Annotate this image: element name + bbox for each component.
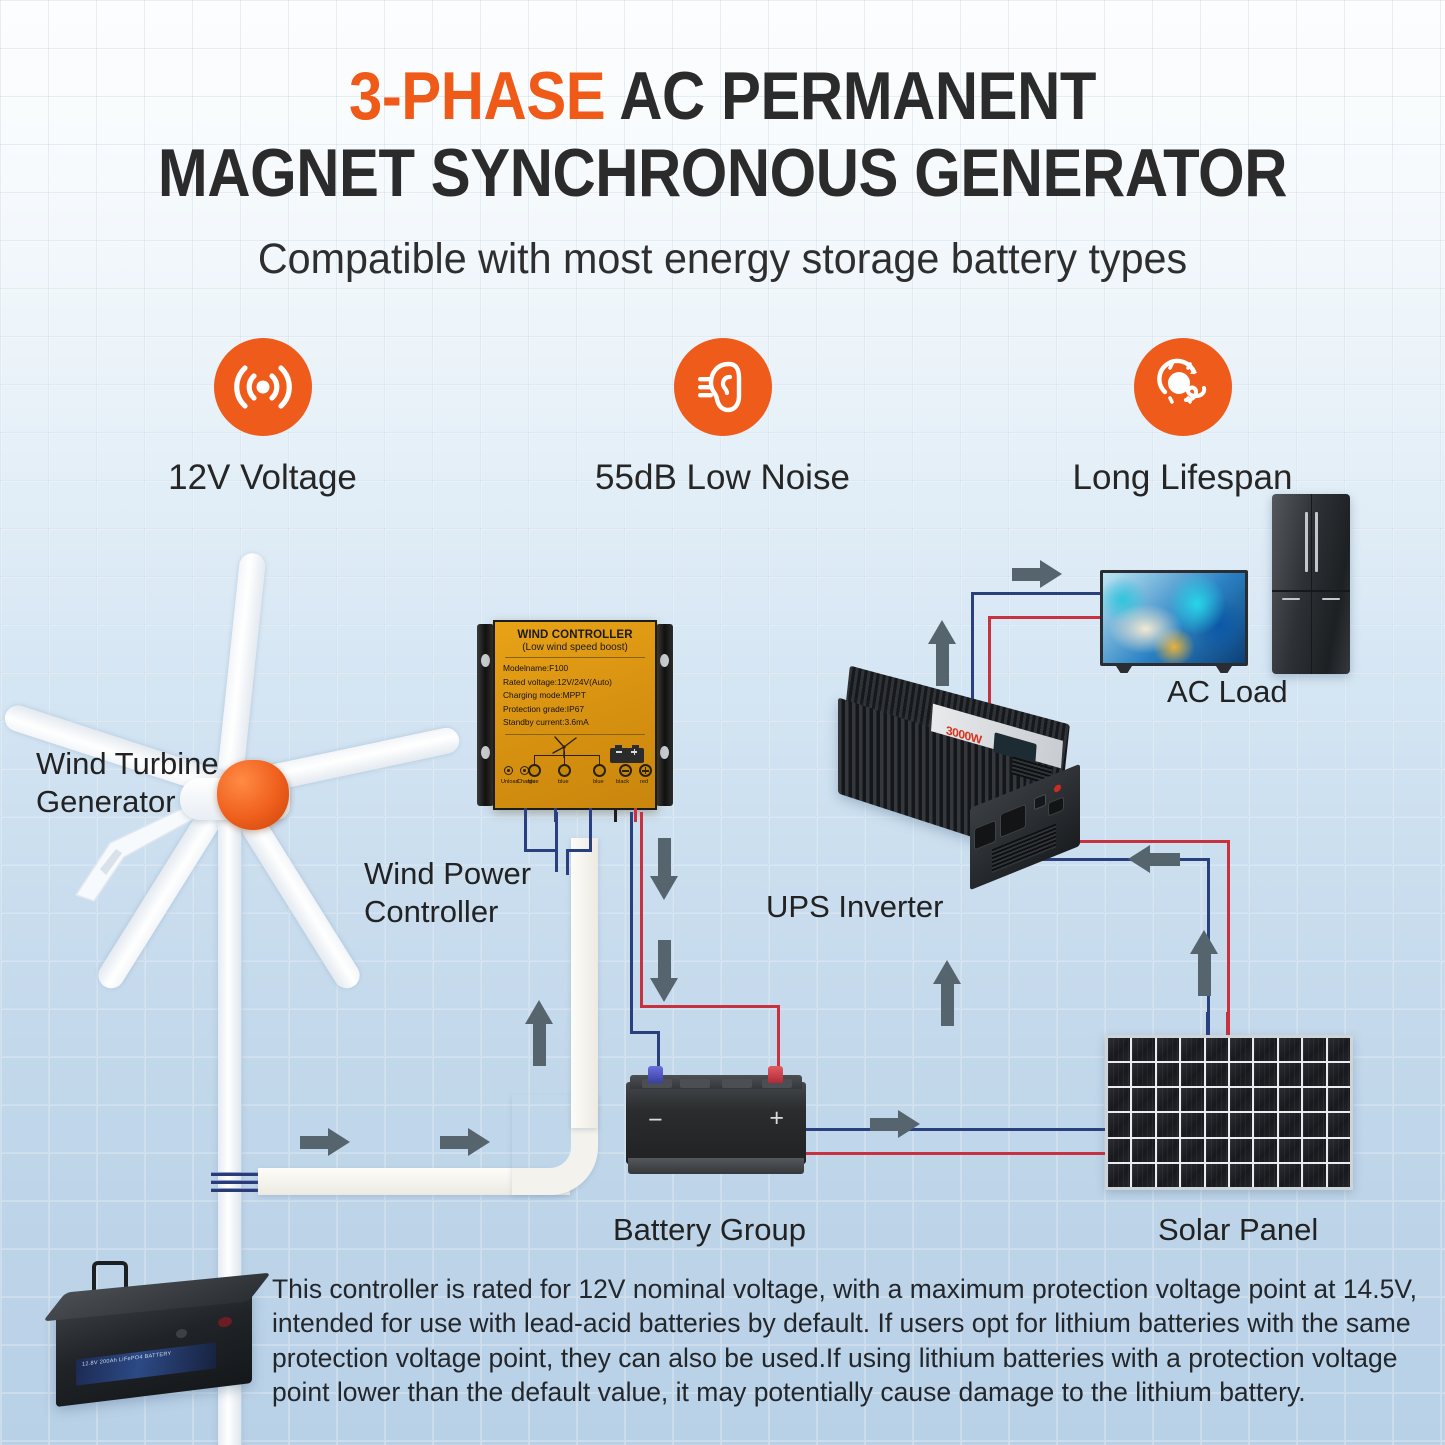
- infographic-canvas: 3-PHASE AC PERMANENT MAGNET SYNCHRONOUS …: [0, 0, 1445, 1445]
- battery-terminal-positive: [768, 1066, 783, 1083]
- controller-spec-protection: Protection grade:IP67: [503, 703, 647, 717]
- phase-lead-merge: [566, 849, 569, 875]
- tv-foot-right: [1216, 666, 1232, 673]
- terminal-label-phase-3: blue: [593, 779, 604, 785]
- phase-lead-1b: [524, 849, 558, 852]
- cable-conduit-vertical: [571, 838, 598, 1128]
- controller-pigtail-black: [614, 808, 617, 822]
- wire-inverter-acload-live-h: [988, 616, 1101, 619]
- terminal-label-phase-1: blue: [528, 779, 539, 785]
- terminal-dc-negative: [619, 764, 632, 777]
- inverter-socket-rj[interactable]: [1048, 796, 1064, 816]
- controller-title: WIND CONTROLLER: [503, 629, 647, 641]
- terminal-phase-2: [558, 764, 571, 777]
- battery-base: [628, 1158, 804, 1174]
- battery-group-graphic: − +: [626, 1066, 806, 1184]
- label-ups-inverter: UPS Inverter: [766, 888, 943, 926]
- page-title-line2: MAGNET SYNCHRONOUS GENERATOR: [87, 139, 1359, 208]
- feature-noise: 55dB Low Noise: [583, 338, 863, 498]
- lifespan-loop-icon: [1134, 338, 1232, 436]
- terminal-unload-led: [504, 766, 513, 775]
- header: 3-PHASE AC PERMANENT MAGNET SYNCHRONOUS …: [0, 0, 1445, 284]
- fridge-door-gap: [1311, 494, 1313, 674]
- inverter-indicator-led: [1054, 783, 1061, 793]
- ups-inverter-graphic: 3000W: [828, 694, 1086, 876]
- terminal-phase-1: [528, 764, 541, 777]
- controller-divider: [505, 657, 645, 658]
- battery-negative-sign: −: [648, 1106, 663, 1135]
- title-highlight: 3-PHASE: [349, 58, 605, 134]
- wire-controller-battery-negative-v: [630, 812, 633, 1034]
- wire-controller-battery-positive-h: [640, 1005, 780, 1008]
- label-solar-panel: Solar Panel: [1158, 1211, 1318, 1249]
- tv-graphic: [1100, 570, 1248, 666]
- controller-pigtail-red: [634, 808, 637, 822]
- feature-label-lifespan: Long Lifespan: [1043, 458, 1323, 498]
- wire-controller-battery-positive-down: [777, 1005, 780, 1073]
- ear-low-noise-icon: [674, 338, 772, 436]
- phase-lead-1: [524, 812, 527, 852]
- controller-spec-standby: Standby current:3.6mA: [503, 716, 647, 730]
- turbine-tail-fin: [66, 787, 198, 905]
- controller-divider-2: [505, 734, 645, 735]
- controller-battery-pictogram: [610, 748, 644, 763]
- controller-faceplate: WIND CONTROLLER (Low wind speed boost) M…: [493, 620, 657, 810]
- phase-lead-3b: [566, 849, 592, 852]
- terminal-label-dc-positive: red: [640, 779, 648, 785]
- controller-spec-charging: Charging mode:MPPT: [503, 689, 647, 703]
- feature-label-noise: 55dB Low Noise: [583, 458, 863, 498]
- tv-screen: [1100, 570, 1248, 666]
- solar-cell-grid: [1108, 1038, 1350, 1187]
- inverter-outlet-universal[interactable]: [1000, 804, 1026, 839]
- phase-lead-3: [589, 812, 592, 852]
- controller-terminal-area: Unload Charge blue blue blue black red: [503, 738, 647, 794]
- controller-spec-model: Modelname:F100: [503, 662, 647, 676]
- controller-spec-voltage: Rated voltage:12V/24V(Auto): [503, 676, 647, 690]
- terminal-label-phase-2: blue: [558, 779, 569, 785]
- battery-positive-sign: +: [769, 1104, 784, 1133]
- battery-terminal-negative: [648, 1066, 663, 1083]
- title-rest: AC PERMANENT: [605, 58, 1096, 134]
- fridge-handle-upper-left: [1305, 512, 1308, 572]
- controller-mount-right: [656, 624, 673, 806]
- label-battery-group: Battery Group: [613, 1211, 806, 1249]
- label-wind-controller: Wind Power Controller: [364, 855, 531, 931]
- lifepo4-battery-graphic: 12.8V 200Ah LiFePO4 BATTERY: [48, 1255, 273, 1425]
- refrigerator-graphic: [1272, 494, 1350, 674]
- fridge-handle-lower-right: [1322, 598, 1340, 600]
- tv-foot-left: [1116, 666, 1132, 673]
- inverter-outlet-secondary[interactable]: [974, 820, 996, 851]
- inverter-power-switch[interactable]: [1034, 794, 1046, 811]
- turbine-blade: [216, 552, 266, 788]
- feature-lifespan: Long Lifespan: [1043, 338, 1323, 498]
- page-subtitle: Compatible with most energy storage batt…: [29, 235, 1416, 284]
- controller-subtitle: (Low wind speed boost): [503, 642, 647, 653]
- wind-power-controller: WIND CONTROLLER (Low wind speed boost) M…: [477, 620, 673, 810]
- page-title-line1: 3-PHASE AC PERMANENT: [87, 62, 1359, 131]
- fridge-handle-lower-left: [1282, 598, 1300, 600]
- wire-controller-battery-positive-v: [640, 812, 643, 1008]
- label-ac-load: AC Load: [1167, 673, 1288, 711]
- fridge-handle-upper-right: [1315, 512, 1318, 572]
- footer-note: This controller is rated for 12V nominal…: [272, 1272, 1417, 1410]
- terminal-dc-positive: [639, 764, 652, 777]
- terminal-phase-3: [593, 764, 606, 777]
- terminal-label-dc-negative: black: [616, 779, 629, 785]
- wire-inverter-acload-neutral-h: [971, 592, 1101, 595]
- turbine-hub: [217, 760, 289, 830]
- wire-controller-battery-negative-h: [630, 1031, 660, 1034]
- controller-mount-left: [477, 624, 494, 806]
- battery-case: − +: [626, 1082, 806, 1164]
- solar-panel-graphic: [1105, 1035, 1353, 1190]
- phase-lead-2: [555, 812, 558, 872]
